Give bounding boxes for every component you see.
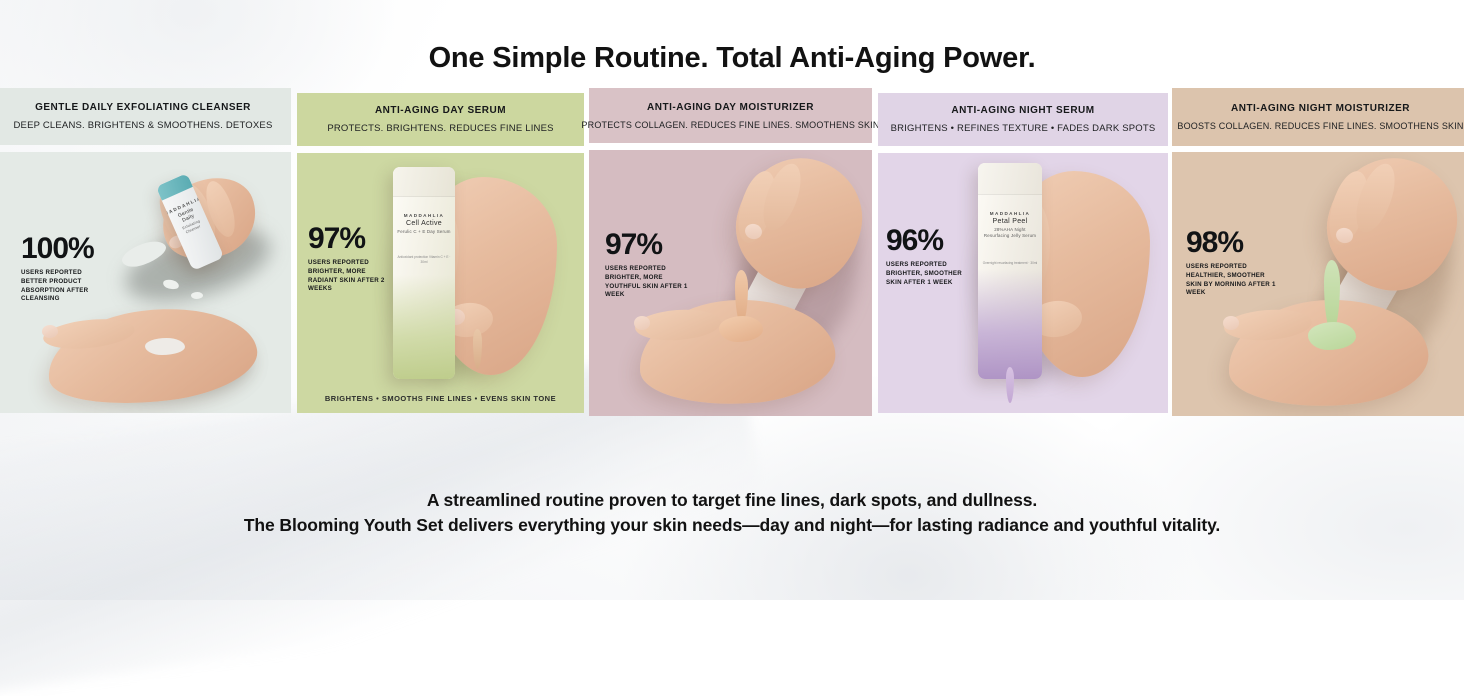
label-fine-print: Antioxidant protection Vitamin C + E · 3… [396, 255, 452, 265]
card-photo-night-moisturizer: MADDAHLIA Flora A Retinal Night Cream [1172, 152, 1464, 416]
stat-block-cleanser: 100% USERS REPORTED BETTER PRODUCT ABSOR… [21, 234, 109, 304]
card-title: ANTI-AGING NIGHT SERUM [951, 105, 1094, 116]
label-fine-print: Overnight resurfacing treatment · 30ml [983, 261, 1038, 266]
card-photo-day-serum: MADDAHLIA Cell Active Ferulic C + E Day … [297, 153, 584, 413]
stat-value: 100% [21, 234, 109, 264]
label-brand: MADDAHLIA [404, 213, 444, 218]
bottle-label: MADDAHLIA Petal Peel 28%AHA Night Resurf… [978, 207, 1042, 270]
stat-description: USERS REPORTED BRIGHTER, SMOOTHER SKIN A… [886, 261, 972, 287]
product-texture-blob [191, 292, 203, 299]
fingernail [634, 316, 650, 330]
stat-description: USERS REPORTED HEALTHIER, SMOOTHER SKIN … [1186, 263, 1278, 298]
fingernail [1223, 316, 1239, 330]
stat-value: 97% [605, 230, 689, 260]
label-product-name: Petal Peel [993, 218, 1028, 225]
product-card-cleanser[interactable]: GENTLE DAILY EXFOLIATING CLEANSER DEEP C… [0, 88, 291, 413]
label-product-name: Cell Active [406, 220, 442, 227]
caption-line-1: A streamlined routine proven to target f… [0, 488, 1464, 513]
serum-drip [1006, 367, 1014, 403]
card-photo-night-serum: MADDAHLIA Petal Peel 28%AHA Night Resurf… [878, 153, 1168, 413]
bottle-gradient-base [978, 269, 1042, 379]
stat-value: 97% [308, 224, 396, 254]
card-header-night-moisturizer: ANTI-AGING NIGHT MOISTURIZER BOOSTS COLL… [1172, 88, 1464, 146]
label-product-desc: 28%AHA Night Resurfacing Jelly Serum [981, 227, 1039, 239]
stat-block-night-serum: 96% USERS REPORTED BRIGHTER, SMOOTHER SK… [886, 226, 972, 287]
label-brand: MADDAHLIA [990, 211, 1030, 216]
product-card-day-serum[interactable]: ANTI-AGING DAY SERUM PROTECTS. BRIGHTENS… [297, 93, 584, 418]
stat-block-day-serum: 97% USERS REPORTED BRIGHTER, MORE RADIAN… [308, 224, 396, 294]
page-headline: One Simple Routine. Total Anti-Aging Pow… [0, 42, 1464, 75]
caption-line-2: The Blooming Youth Set delivers everythi… [0, 513, 1464, 538]
card-header-night-serum: ANTI-AGING NIGHT SERUM BRIGHTENS • REFIN… [878, 93, 1168, 146]
card-header-day-moisturizer: ANTI-AGING DAY MOISTURIZER PROTECTS COLL… [589, 88, 872, 143]
card-title: ANTI-AGING DAY SERUM [375, 105, 506, 116]
stat-value: 96% [886, 226, 972, 256]
stat-description: USERS REPORTED BETTER PRODUCT ABSORPTION… [21, 269, 109, 304]
bottle-pump-cap [393, 167, 455, 197]
stat-block-day-moisturizer: 97% USERS REPORTED BRIGHTER, MORE YOUTHF… [605, 230, 689, 300]
card-title: ANTI-AGING NIGHT MOISTURIZER [1231, 103, 1410, 114]
card-header-cleanser: GENTLE DAILY EXFOLIATING CLEANSER DEEP C… [0, 88, 291, 145]
card-subtitle: BOOSTS COLLAGEN. REDUCES FINE LINES. SMO… [1177, 121, 1463, 131]
product-bottle-day-serum: MADDAHLIA Cell Active Ferulic C + E Day … [393, 167, 455, 379]
card-subtitle: PROTECTS COLLAGEN. REDUCES FINE LINES. S… [581, 120, 879, 130]
product-card-night-moisturizer[interactable]: ANTI-AGING NIGHT MOISTURIZER BOOSTS COLL… [1172, 88, 1464, 416]
product-card-strip: GENTLE DAILY EXFOLIATING CLEANSER DEEP C… [0, 88, 1464, 428]
product-card-night-serum[interactable]: ANTI-AGING NIGHT SERUM BRIGHTENS • REFIN… [878, 93, 1168, 417]
bottom-caption: A streamlined routine proven to target f… [0, 488, 1464, 538]
infographic-page: One Simple Routine. Total Anti-Aging Pow… [0, 0, 1464, 600]
card-title: ANTI-AGING DAY MOISTURIZER [647, 102, 814, 113]
card-header-day-serum: ANTI-AGING DAY SERUM PROTECTS. BRIGHTENS… [297, 93, 584, 146]
stat-value: 98% [1186, 228, 1278, 258]
stat-block-night-moisturizer: 98% USERS REPORTED HEALTHIER, SMOOTHER S… [1186, 228, 1278, 298]
stat-description: USERS REPORTED BRIGHTER, MORE RADIANT SK… [308, 259, 396, 294]
fingernail [42, 325, 58, 338]
stat-description: USERS REPORTED BRIGHTER, MORE YOUTHFUL S… [605, 265, 689, 300]
card-footer-benefits: BRIGHTENS • SMOOTHS FINE LINES • EVENS S… [297, 394, 584, 403]
card-title: GENTLE DAILY EXFOLIATING CLEANSER [35, 102, 251, 113]
product-card-day-moisturizer[interactable]: ANTI-AGING DAY MOISTURIZER PROTECTS COLL… [589, 88, 872, 416]
card-photo-day-moisturizer: MADDAHLIA Day Cream Collagen Moisturizer [589, 150, 872, 416]
label-product-desc: Ferulic C + E Day Serum [397, 229, 450, 235]
card-subtitle: BRIGHTENS • REFINES TEXTURE • FADES DARK… [891, 123, 1156, 134]
product-bottle-night-serum: MADDAHLIA Petal Peel 28%AHA Night Resurf… [978, 163, 1042, 379]
card-photo-cleanser: MADDAHLIA Gentle Daily Exfoliating Clean… [0, 152, 291, 413]
bottle-gradient-base [393, 275, 455, 379]
open-palm [42, 298, 262, 413]
bottle-pump-cap [978, 163, 1042, 195]
card-subtitle: PROTECTS. BRIGHTENS. REDUCES FINE LINES [327, 123, 553, 134]
bottle-label: MADDAHLIA Cell Active Ferulic C + E Day … [393, 209, 455, 269]
card-subtitle: DEEP CLEANS. BRIGHTENS & SMOOTHENS. DETO… [14, 120, 273, 131]
